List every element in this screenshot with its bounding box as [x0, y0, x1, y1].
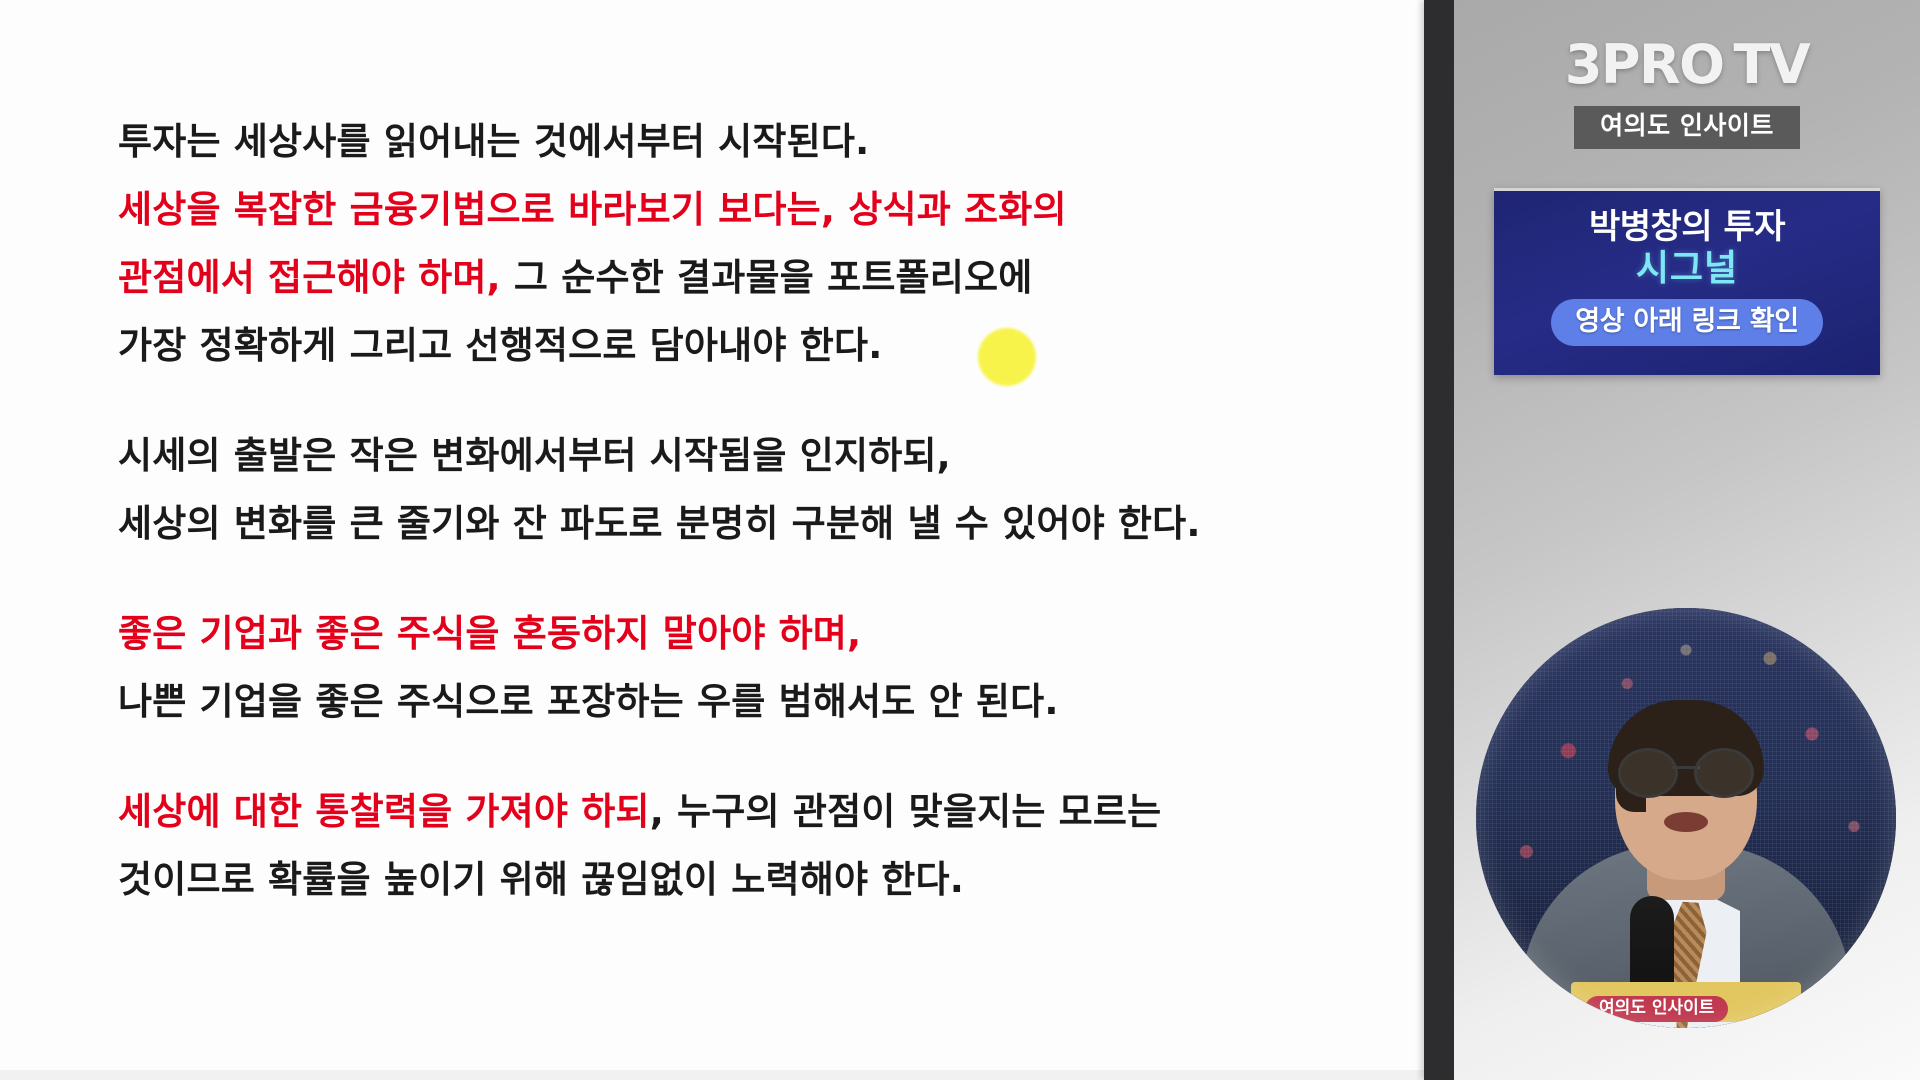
slide-line-3-red: 관점에서 접근해야 하며, — [118, 256, 501, 299]
paragraph-4: 세상에 대한 통찰력을 가져야 하되, 누구의 관점이 맞을지는 모르는 것이므… — [118, 778, 1378, 914]
promo-title-line2: 시그널 — [1494, 249, 1880, 289]
logo-text-tv: TV — [1734, 33, 1810, 96]
slide-line-10: 것이므로 확률을 높이기 위해 끊임없이 노력해야 한다. — [118, 846, 1378, 914]
slide-line-9-red: 세상에 대한 통찰력을 가져야 하되 — [118, 790, 650, 833]
slide-line-5: 시세의 출발은 작은 변화에서부터 시작됨을 인지하되, — [118, 422, 1378, 490]
slide-line-3-black: 그 순수한 결과물을 포트폴리오에 — [501, 256, 1033, 299]
speaker-video-circle[interactable]: 여의도 인사이트 — [1476, 608, 1896, 1028]
speaker-mouth — [1664, 812, 1708, 832]
lower-third-bar: 여의도 인사이트 — [1571, 982, 1801, 1022]
glasses-lens-right — [1694, 748, 1754, 798]
promo-card[interactable]: 박병창의 투자 시그널 영상 아래 링크 확인 — [1494, 188, 1880, 375]
slide-line-3: 관점에서 접근해야 하며, 그 순수한 결과물을 포트폴리오에 — [118, 244, 1378, 312]
paragraph-2: 시세의 출발은 작은 변화에서부터 시작됨을 인지하되, 세상의 변화를 큰 줄… — [118, 422, 1378, 558]
promo-title-line1: 박병창의 투자 — [1494, 207, 1880, 247]
slide-line-6: 세상의 변화를 큰 줄기와 잔 파도로 분명히 구분해 낼 수 있어야 한다. — [118, 490, 1378, 558]
channel-logo-subtitle: 여의도 인사이트 — [1574, 106, 1800, 149]
speaker-figure — [1476, 608, 1896, 1028]
slide-line-1: 투자는 세상사를 읽어내는 것에서부터 시작된다. — [118, 108, 1378, 176]
slide-line-9-black: , 누구의 관점이 맞을지는 모르는 — [650, 790, 1162, 833]
presentation-screen: 투자는 세상사를 읽어내는 것에서부터 시작된다. 세상을 복잡한 금융기법으로… — [0, 0, 1920, 1080]
glasses-icon — [1618, 748, 1754, 792]
slide-line-8: 나쁜 기업을 좋은 주식으로 포장하는 우를 범해서도 안 된다. — [118, 668, 1378, 736]
slide-line-7: 좋은 기업과 좋은 주식을 혼동하지 말아야 하며, — [118, 600, 1378, 668]
paragraph-1: 투자는 세상사를 읽어내는 것에서부터 시작된다. 세상을 복잡한 금융기법으로… — [118, 108, 1378, 380]
glasses-lens-left — [1618, 748, 1678, 798]
lower-third-label: 여의도 인사이트 — [1585, 996, 1728, 1022]
channel-logo-title: 3PROTV — [1454, 38, 1920, 92]
slide-text-body: 투자는 세상사를 읽어내는 것에서부터 시작된다. 세상을 복잡한 금융기법으로… — [118, 108, 1378, 914]
promo-link-pill[interactable]: 영상 아래 링크 확인 — [1551, 299, 1823, 346]
slide-line-2: 세상을 복잡한 금융기법으로 바라보기 보다는, 상식과 조화의 — [118, 176, 1378, 244]
slide-line-9: 세상에 대한 통찰력을 가져야 하되, 누구의 관점이 맞을지는 모르는 — [118, 778, 1378, 846]
paragraph-3: 좋은 기업과 좋은 주식을 혼동하지 말아야 하며, 나쁜 기업을 좋은 주식으… — [118, 600, 1378, 736]
panel-divider — [1424, 0, 1454, 1080]
channel-logo: 3PROTV 여의도 인사이트 — [1454, 38, 1920, 149]
yellow-dot-marker-icon — [978, 328, 1036, 386]
slide-line-4: 가장 정확하게 그리고 선행적으로 담아내야 한다. — [118, 312, 1378, 380]
slide-panel: 투자는 세상사를 읽어내는 것에서부터 시작된다. 세상을 복잡한 금융기법으로… — [0, 0, 1424, 1080]
logo-text-3pro: 3PRO — [1565, 33, 1724, 96]
